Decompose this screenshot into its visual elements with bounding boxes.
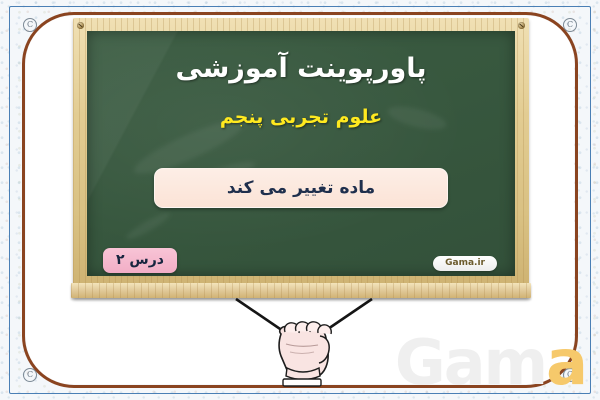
page-watermark: Gama <box>395 332 586 394</box>
page-watermark-main: Gam <box>395 326 546 399</box>
lesson-badge: درس ۲ <box>103 248 177 273</box>
slide-canvas: C C C C Gama پاورپوینت آموزشی علوم تجربی… <box>0 0 600 400</box>
corner-c-mark-top-right: C <box>563 18 577 32</box>
screw-icon-top-left <box>77 22 84 29</box>
screw-icon-top-right <box>518 22 525 29</box>
chalkboard: پاورپوینت آموزشی علوم تجربی پنجم ماده تغ… <box>73 18 529 298</box>
site-pill: Gama.ir <box>433 256 497 271</box>
topic-title: ماده تغییر می کند <box>227 178 375 198</box>
presentation-title: پاورپوینت آموزشی <box>175 53 426 84</box>
chalkboard-ledge <box>71 283 531 298</box>
chalkboard-surface: پاورپوینت آموزشی علوم تجربی پنجم ماده تغ… <box>87 31 515 276</box>
subject-subtitle: علوم تجربی پنجم <box>220 106 382 128</box>
page-watermark-accent: a <box>546 326 586 399</box>
corner-c-mark-top-left: C <box>23 18 37 32</box>
chalkboard-content: پاورپوینت آموزشی علوم تجربی پنجم ماده تغ… <box>87 31 515 276</box>
corner-c-mark-bottom-left: C <box>23 368 37 382</box>
topic-box: ماده تغییر می کند <box>154 168 448 208</box>
